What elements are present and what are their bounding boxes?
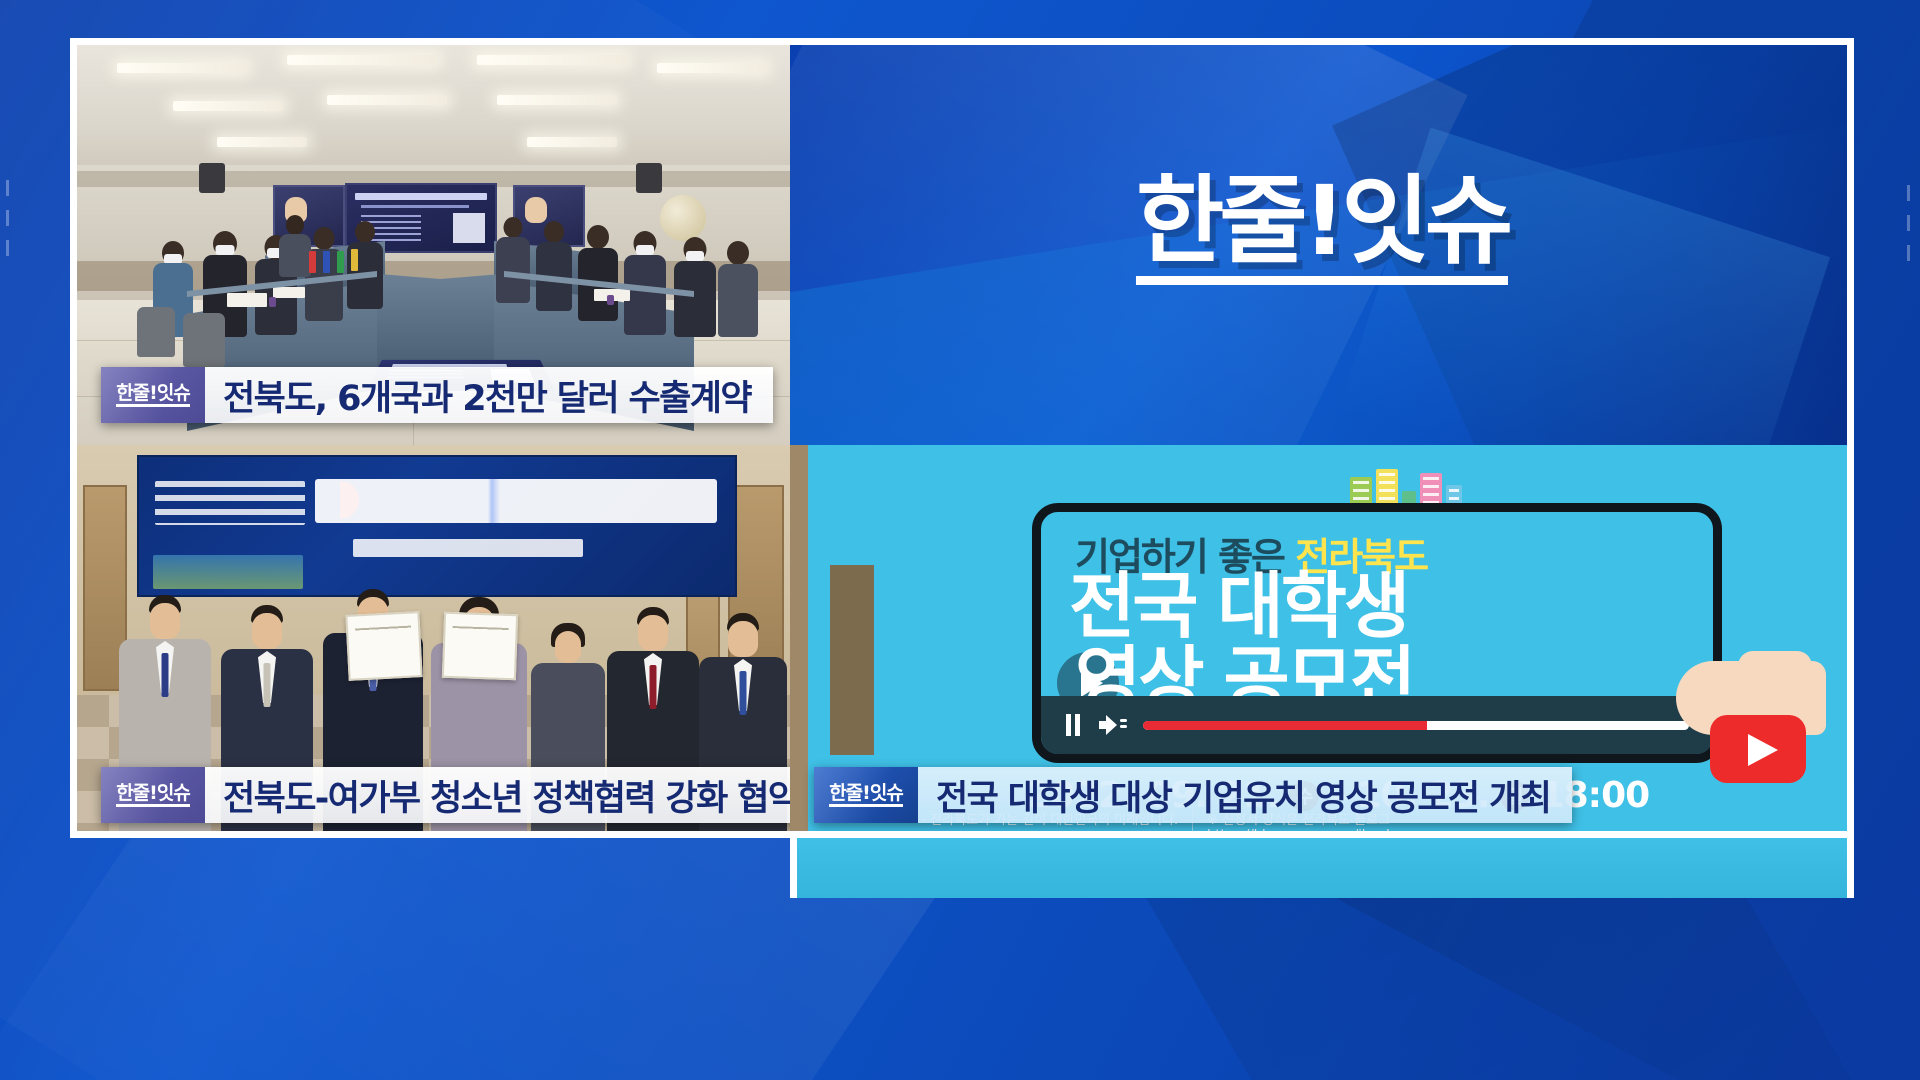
attendee-head: [504, 217, 523, 238]
attendee-head: [286, 215, 304, 235]
ceiling-light: [497, 95, 617, 105]
face-mask: [636, 245, 654, 255]
progress-track[interactable]: [1143, 721, 1689, 730]
photo-sliver-door: [830, 565, 874, 755]
ceiling-light: [117, 63, 247, 73]
cup: [269, 297, 276, 307]
speaker-icon: [199, 163, 225, 193]
cup: [607, 295, 614, 305]
signatory-head: [728, 621, 758, 657]
volume-icon[interactable]: [1099, 715, 1125, 735]
background-tick: [6, 210, 9, 226]
lower-third-caption-top-left: 한줄!잇슈 전북도, 6개국과 2천만 달러 수출계약: [101, 367, 773, 423]
background-tick: [1907, 245, 1910, 261]
blog-link[interactable]: https://blog.naver.com/jbookr: [1207, 828, 1399, 838]
ceiling-light: [477, 55, 627, 65]
ceiling-light: [173, 101, 283, 111]
caption-badge-label: 한줄!잇슈: [116, 784, 190, 807]
signatory-tie: [162, 653, 169, 697]
photo-sliver-wall: [790, 445, 808, 838]
panel-top-left-news-photo: 한줄!잇슈 전북도, 6개국과 2천만 달러 수출계약: [77, 45, 790, 445]
caption-headline: 전국 대학생 대상 기업유치 영상 공모전 개최: [918, 767, 1572, 823]
signatory-tie: [740, 671, 747, 715]
attendee-body: [279, 234, 311, 277]
screen-thumbnail: [453, 213, 485, 243]
attendee-body: [624, 255, 666, 335]
caption-badge: 한줄!잇슈: [101, 367, 205, 423]
background-tick: [6, 240, 9, 256]
panel-bottom-right-poster: 기업하기 좋은 전라북도 전국 대학생 영상 공모전 2022. 09. 21.…: [790, 445, 1854, 838]
attendee-body: [496, 237, 530, 303]
attendee: [716, 241, 760, 337]
attendee: [576, 225, 620, 321]
caption-badge: 한줄!잇슈: [101, 767, 205, 823]
ceiling-light: [657, 63, 767, 73]
brand-logo-label: 한줄!잇슈: [1136, 173, 1508, 285]
table-flag: [351, 249, 358, 271]
caption-headline: 전북도-여가부 청소년 정책협력 강화 협약: [205, 767, 790, 823]
screen-title-bar: [355, 193, 487, 200]
banner-date-line: [353, 539, 583, 557]
signatory-head: [150, 603, 180, 639]
poster-underflow-strip: [790, 838, 1854, 898]
speaker-icon: [636, 163, 662, 193]
document: [227, 293, 267, 307]
attendee-body: [718, 264, 758, 337]
chair: [183, 313, 225, 367]
background-tick: [6, 180, 9, 196]
attendee: [622, 231, 668, 335]
pause-icon[interactable]: [1065, 714, 1081, 736]
screen-subtitle-bar: [361, 205, 469, 208]
quad-panel-frame: 한줄!잇슈 전북도, 6개국과 2천만 달러 수출계약 한줄!잇슈: [70, 38, 1854, 838]
attendee-head: [544, 221, 564, 243]
signatory-head: [252, 613, 282, 649]
ceiling-light: [287, 55, 437, 65]
attendee-head: [314, 227, 335, 250]
attendee-body: [674, 261, 716, 337]
mou-certificate: [442, 612, 518, 681]
signatory-tie: [650, 665, 657, 709]
signatory-tie: [264, 663, 271, 707]
signatory-head: [638, 615, 668, 651]
caption-badge-label: 한줄!잇슈: [116, 384, 190, 407]
table-flag: [323, 251, 330, 273]
footnote-2: · 전라북도에서 기업의 성공 신화를 씁니다.: [922, 828, 1178, 838]
background-tick: [1907, 215, 1910, 231]
poster-video-device: 기업하기 좋은 전라북도 전국 대학생 영상 공모전: [1032, 503, 1722, 763]
hand-thumb: [1738, 651, 1812, 681]
hand-illustration: [1656, 595, 1826, 735]
attendee: [494, 217, 532, 303]
attendee: [277, 215, 313, 277]
panel-bottom-left-news-photo: 한줄!잇슈 전북도-여가부 청소년 정책협력 강화 협약: [77, 445, 790, 838]
panel-top-right-brand: 한줄!잇슈: [790, 45, 1854, 445]
banner-subtitle-lines: [155, 481, 305, 525]
chair: [137, 307, 175, 357]
document: [273, 287, 305, 298]
caption-badge-label: 한줄!잇슈: [829, 784, 903, 807]
face-mask: [216, 245, 235, 255]
caption-badge: 한줄!잇슈: [814, 767, 918, 823]
ceiling-light: [217, 137, 307, 147]
table-flag: [337, 251, 344, 273]
youtube-play-icon: [1710, 715, 1806, 783]
ceiling-light: [527, 137, 617, 147]
event-backdrop-banner: [137, 455, 737, 597]
banner-photo-strip: [153, 555, 303, 589]
attendee-head: [727, 241, 749, 265]
progress-fill: [1143, 721, 1427, 730]
signatory-head: [555, 631, 581, 663]
attendee-head: [355, 221, 375, 243]
background-tick: [1907, 185, 1910, 201]
mou-certificate: [345, 611, 422, 681]
brand-logo: 한줄!잇슈: [1136, 173, 1508, 285]
lower-third-caption-bottom-right: 한줄!잇슈 전국 대학생 대상 기업유치 영상 공모전 개최: [814, 767, 1572, 823]
ceiling-light: [327, 95, 447, 105]
lower-third-caption-bottom-left: 한줄!잇슈 전북도-여가부 청소년 정책협력 강화 협약: [101, 767, 790, 823]
caption-headline: 전북도, 6개국과 2천만 달러 수출계약: [205, 367, 773, 423]
video-control-bar[interactable]: [1041, 696, 1713, 754]
banner-main-title: [315, 479, 717, 523]
poster-title-line1: 전국 대학생: [1069, 570, 1407, 642]
attendee-head: [587, 225, 609, 249]
attendee: [672, 237, 718, 337]
table-flag: [309, 251, 316, 273]
attendee: [534, 221, 574, 311]
face-mask: [686, 251, 704, 261]
